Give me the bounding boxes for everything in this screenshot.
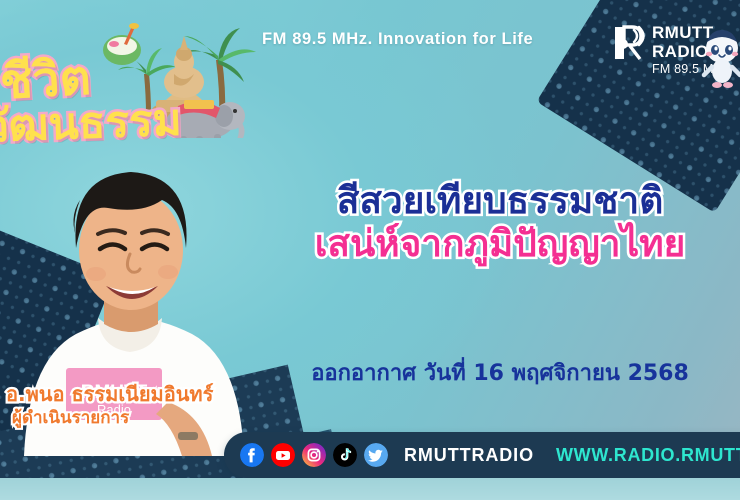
station-tagline: FM 89.5 MHz. Innovation for Life <box>262 30 533 49</box>
tiktok-icon[interactable] <box>333 443 357 467</box>
broadcast-date: ออกอากาศ วันที่ 16 พฤศจิกายน 2568 <box>270 355 730 390</box>
youtube-icon[interactable] <box>271 443 295 467</box>
host-role: ผู้ดำเนินรายการ <box>12 404 129 431</box>
episode-title-line1: สีสวยเทียบธรรมชาติ <box>270 182 730 221</box>
footer-bar: RMUTTRADIO WWW.RADIO.RMUTT.AC <box>224 432 740 478</box>
broadcast-banner: ชีวิต วัฒนธรรม FM 89.5 MHz. Innovation f… <box>0 0 740 500</box>
instagram-icon[interactable] <box>302 443 326 467</box>
episode-title-line2: เสน่ห์จากภูมิปัญญาไทย <box>270 225 730 264</box>
episode-title: สีสวยเทียบธรรมชาติ เสน่ห์จากภูมิปัญญาไทย <box>270 182 730 264</box>
facebook-icon[interactable] <box>240 443 264 467</box>
footer-url[interactable]: WWW.RADIO.RMUTT.AC <box>556 445 740 466</box>
bottom-shelf <box>0 478 740 500</box>
program-logo: ชีวิต วัฒนธรรม <box>0 24 262 154</box>
footer-handle: RMUTTRADIO <box>404 445 534 466</box>
mascot-character-icon <box>700 26 740 88</box>
twitter-icon[interactable] <box>364 443 388 467</box>
radio-tower-icon <box>612 24 646 62</box>
